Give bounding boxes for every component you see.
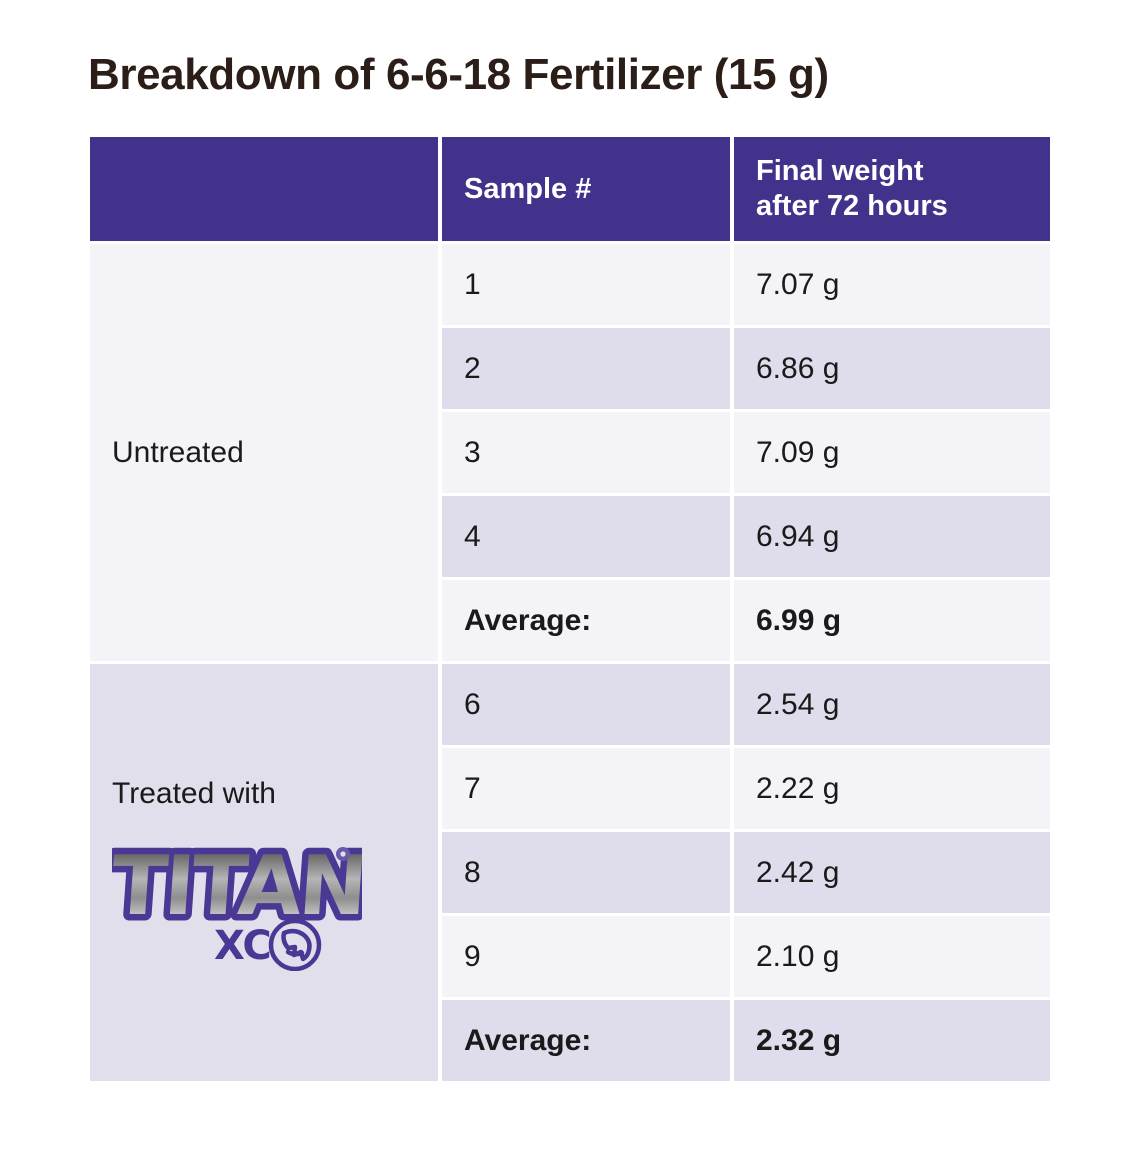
cell-weight: 2.22 g: [734, 748, 1050, 829]
cell-sample: 7: [442, 748, 730, 829]
cell-sample: 8: [442, 832, 730, 913]
header-cell-group: [90, 137, 438, 241]
header-label-weight-line1: Final weight: [756, 154, 1028, 189]
cell-weight: 7.07 g: [734, 244, 1050, 325]
titan-xc-logo: TITAN TITAN XC: [112, 821, 362, 971]
table-row: Untreated 1 7.07 g: [90, 244, 1050, 325]
cell-weight: 2.42 g: [734, 832, 1050, 913]
cell-average-value: 2.32 g: [734, 1000, 1050, 1081]
table-row: Treated with: [90, 664, 1050, 745]
fertilizer-breakdown-table: Sample # Final weight after 72 hours Unt…: [86, 134, 1054, 1084]
header-label-weight-line2: after 72 hours: [756, 189, 1028, 224]
cell-weight: 6.86 g: [734, 328, 1050, 409]
xc-wordmark-icon: XC: [214, 923, 271, 969]
page-title: Breakdown of 6-6-18 Fertilizer (15 g): [88, 47, 1088, 103]
cell-weight: 6.94 g: [734, 496, 1050, 577]
registered-trademark-icon: [336, 847, 350, 861]
group-cell-treated: Treated with: [90, 664, 438, 1081]
cell-weight: 7.09 g: [734, 412, 1050, 493]
header-label-sample: Sample #: [464, 172, 708, 207]
header-cell-sample: Sample #: [442, 137, 730, 241]
cell-weight: 2.54 g: [734, 664, 1050, 745]
cell-sample: 3: [442, 412, 730, 493]
cell-weight: 2.10 g: [734, 916, 1050, 997]
group-cell-untreated: Untreated: [90, 244, 438, 661]
cell-average-value: 6.99 g: [734, 580, 1050, 661]
cell-sample: 2: [442, 328, 730, 409]
table-header-row: Sample # Final weight after 72 hours: [90, 137, 1050, 241]
cell-sample: 6: [442, 664, 730, 745]
group-label-untreated: Untreated: [112, 434, 416, 472]
svg-text:TITAN: TITAN: [112, 839, 362, 934]
group-label-treated: Treated with: [112, 775, 416, 813]
slide-canvas: Breakdown of 6-6-18 Fertilizer (15 g) Sa…: [0, 0, 1148, 1172]
cell-sample: 9: [442, 916, 730, 997]
cell-average-label: Average:: [442, 1000, 730, 1081]
cell-sample: 4: [442, 496, 730, 577]
titan-wordmark-icon: TITAN TITAN: [112, 839, 362, 934]
cell-average-label: Average:: [442, 580, 730, 661]
header-cell-weight: Final weight after 72 hours: [734, 137, 1050, 241]
cell-sample: 1: [442, 244, 730, 325]
